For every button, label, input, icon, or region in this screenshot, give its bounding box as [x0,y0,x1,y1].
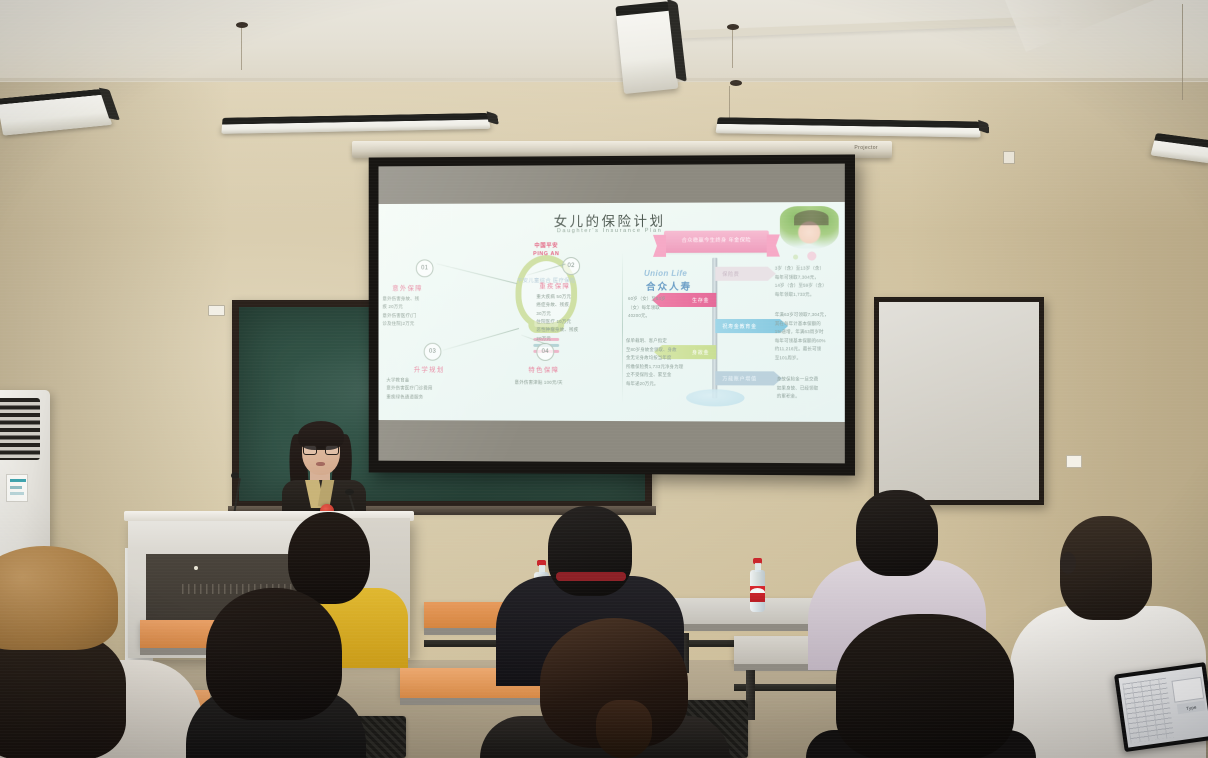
presenter-mouth [316,462,325,466]
block-04-body: 意外伤害津贴 100元/天 [515,379,618,388]
light-mount-1 [236,22,248,28]
ceiling-light-2 [616,9,678,94]
screen-brand-label: Projector [854,145,878,151]
child-hair [794,210,828,225]
light-rod-2 [732,30,733,68]
audience-head-lavender [856,490,938,576]
left-note-1: 60岁（女）至64岁 （女）每年领取 40200元。 [628,295,704,321]
audience-ponytail-tail [596,700,652,758]
audience-head-long-hair [836,614,1014,758]
laptop-screen-cols [1122,678,1174,744]
right-note-1: 3岁（含）至13岁（含） 每年可领取7,304元， 14岁（含）至59岁（含） … [775,265,845,300]
block-01-body: 意外伤害身故、残 疾 20万元 意外伤害医疗(门 诊及住院)2万元 [382,295,473,328]
signpost-base [686,389,744,406]
audience-collar-red [556,572,626,581]
signpost-banner: 合众稳赢今生终身 年金保险 [664,230,769,252]
projector-screen: 女儿的保险计划 Daughter's Insurance Plan 中国平安 P… [369,154,855,475]
presenter-glasses-icon [303,445,339,455]
air-conditioner-vent [0,398,40,460]
projected-slide-surface: 女儿的保险计划 Daughter's Insurance Plan 中国平安 P… [379,164,845,464]
podium-indicator-light [194,566,198,570]
signpost-sign-5: 万能账户增值 [715,371,782,385]
union-life-logo-cn: 合众人寿 [646,279,692,293]
audience-head-black-shirt [548,506,632,596]
audience-beret-hat [0,546,118,650]
light-switch[interactable] [1066,455,1082,468]
laptop-screen[interactable]: Type [1119,667,1208,748]
node-04: 04 [536,343,554,361]
union-life-logo-en: Union Life [644,269,687,278]
whiteboard [874,297,1044,505]
audience-hair-beret [0,632,126,758]
block-02-body: 重大疾病 50万元 癌症身故、残疾 30万元 住院医疗 10万元 恶性肿瘤身故、… [536,293,620,343]
left-note-2: 保单载明、客户指定 至80岁身故金领取、身故 金无论身故均按当年度 所缴保险费1… [626,337,706,389]
block-01-heading: 意外保障 [392,283,423,292]
laptop[interactable]: Type [1114,662,1208,758]
node-03: 03 [424,343,442,361]
air-conditioner-label [6,474,28,502]
slide-divider [622,251,623,403]
light-rod-1 [241,28,242,70]
ceiling-seam [0,78,1208,81]
audience-ear-white-tshirt [1060,552,1076,574]
right-note-3: 身故保险金一旦交费 如果身故、已经领取 的累积金。 [777,375,845,401]
slide-decoration-green [793,255,798,260]
laptop-screen-dialog [1171,677,1204,703]
pingan-brand-cn: 中国平安 [510,242,584,250]
signpost-sign-1: 保险费 [715,267,776,281]
classroom-photo-scene: Projector 女儿的保险计划 Daughter's Insurance P… [0,0,1208,758]
laptop-screen-label: Type [1177,701,1206,715]
right-note-2: 年满63岁可领取7,304元， 其在每年计基本保额的 1%递增，年满63周岁时 … [775,311,845,363]
leader-03 [443,328,519,351]
leader-01 [437,263,518,284]
wall-socket-left[interactable] [208,305,225,316]
block-02-heading: 重疾保障 [539,281,570,290]
block-03-body: 大学教育金 意外伤害医疗门诊费用 重疾绿色通道服务 [386,376,484,401]
microphone-head-right [345,489,354,495]
block-03-heading: 升学规划 [414,365,445,374]
light-mount-3 [730,80,742,86]
light-rod-4 [1182,4,1183,100]
slide-decoration-pink [807,251,816,260]
slide-subtitle: Daughter's Insurance Plan [379,227,845,235]
microphone-head-left [231,472,239,479]
audience-head-left-dark [206,588,342,720]
block-04-heading: 特色保障 [528,365,559,374]
light-mount-2 [727,24,739,30]
node-02: 02 [562,257,580,275]
node-01: 01 [416,259,434,277]
wall-socket-upper[interactable] [1003,151,1015,164]
slide: 女儿的保险计划 Daughter's Insurance Plan 中国平安 P… [379,202,845,422]
